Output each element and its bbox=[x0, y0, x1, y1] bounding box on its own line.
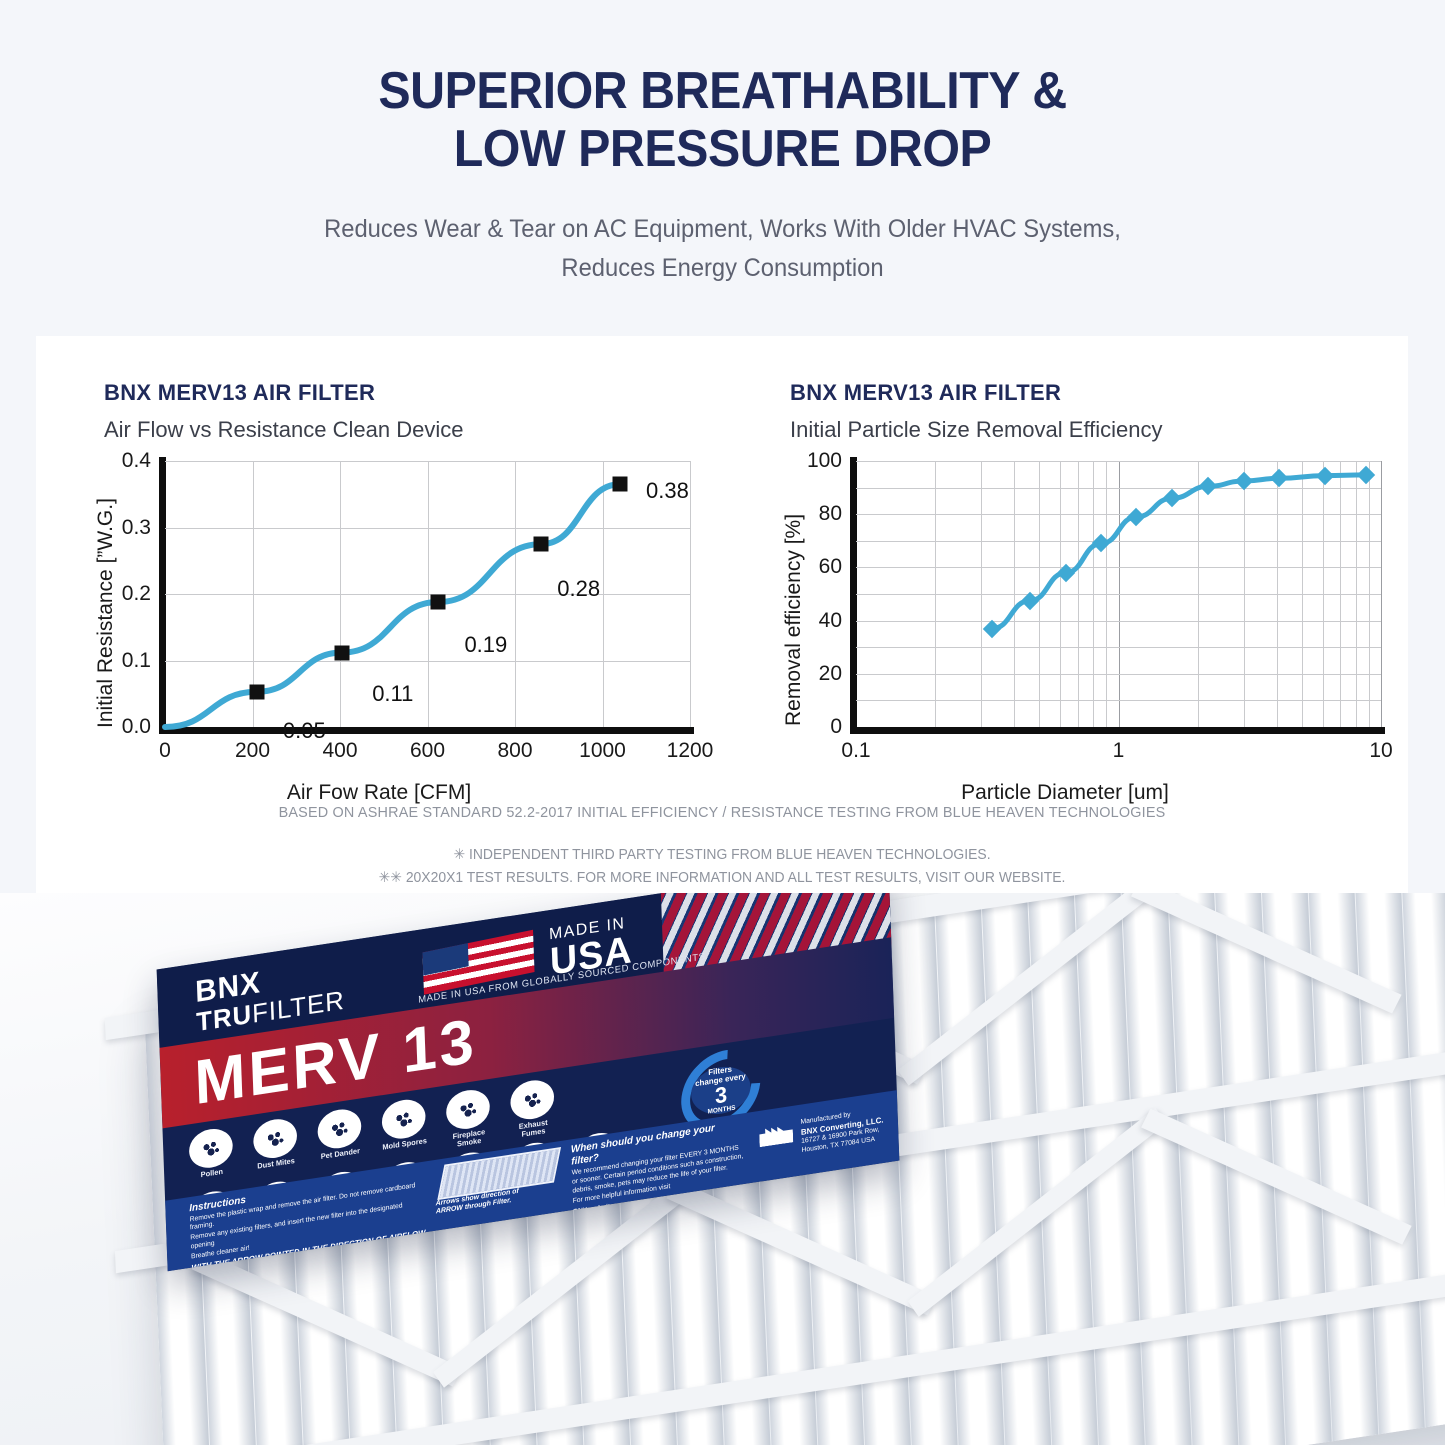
chart-1-x-tick: 0 bbox=[159, 739, 171, 763]
chart-1-x-axis-label: Air Fow Rate [CFM] bbox=[36, 781, 722, 805]
footnote-standard: BASED ON ASHRAE STANDARD 52.2-2017 INITI… bbox=[63, 804, 1380, 821]
chart-2-y-tick: 100 bbox=[807, 449, 842, 473]
product-photo: BNX TRUFILTER MADE IN USA MADE IN USA FR… bbox=[0, 893, 1445, 1445]
chart-2-x-axis bbox=[850, 727, 1385, 734]
particle-icon-cell: Pollen bbox=[185, 1125, 238, 1189]
chart-1-x-tick: 1000 bbox=[579, 739, 626, 763]
chart-2-x-tick: 1 bbox=[1113, 739, 1125, 763]
chart-1-x-tick: 200 bbox=[235, 739, 270, 763]
particle-icon-label: Pet Dander bbox=[315, 1146, 367, 1162]
charts-card: BNX MERV13 AIR FILTER Air Flow vs Resist… bbox=[36, 336, 1408, 893]
chart-1-plot-area: 0200400600800100012000.00.10.20.30.40.05… bbox=[165, 461, 690, 727]
exhaust-fumes-icon bbox=[510, 1077, 555, 1122]
chart-1-x-tick: 800 bbox=[497, 739, 532, 763]
page-title: SUPERIOR BREATHABILITY & LOW PRESSURE DR… bbox=[51, 0, 1395, 178]
chart-1-series-line bbox=[165, 461, 690, 727]
chart-1-point-label: 0.38 bbox=[646, 478, 689, 504]
chart-1-y-tick: 0.2 bbox=[122, 582, 151, 606]
chart-1-x-tick: 400 bbox=[322, 739, 357, 763]
page-subtitle-line-2: Reduces Energy Consumption bbox=[36, 249, 1409, 288]
chart-1-data-point bbox=[613, 477, 628, 492]
footnote-line-2: ✳ INDEPENDENT THIRD PARTY TESTING FROM B… bbox=[63, 844, 1380, 867]
chart-2-x-tick: 10 bbox=[1369, 739, 1392, 763]
particle-icon-cell: Pet Dander bbox=[313, 1106, 366, 1170]
chart-1-x-tick: 600 bbox=[410, 739, 445, 763]
chart-2-y-tick: 40 bbox=[819, 609, 842, 633]
particle-icon-cell: Exhaust Fumes bbox=[506, 1077, 559, 1141]
particle-icon-label: Mold Spores bbox=[379, 1136, 431, 1152]
chart-1-y-tick: 0.1 bbox=[122, 649, 151, 673]
chart-2-gridline-v bbox=[1381, 461, 1382, 727]
chart-1-gridline-v bbox=[690, 461, 691, 727]
chart-1-title: Air Flow vs Resistance Clean Device bbox=[104, 417, 463, 443]
particle-icon-cell: Mold Spores bbox=[377, 1096, 430, 1160]
chart-1-point-label: 0.28 bbox=[557, 576, 600, 602]
badge-number: 3 bbox=[715, 1084, 728, 1108]
mold-spores-icon bbox=[381, 1097, 426, 1142]
manufacturer-text: Manufactured by BNX Converting, LLC. 167… bbox=[800, 1106, 884, 1156]
chart-2-y-axis-label: Removal efficiency [%] bbox=[782, 514, 806, 726]
chart-1-y-tick: 0.0 bbox=[122, 715, 151, 739]
particle-icon-cell: Dust Mites bbox=[249, 1116, 302, 1180]
footnote-line-3: ✳✳ 20X20X1 TEST RESULTS. FOR MORE INFORM… bbox=[63, 867, 1380, 890]
chart-2-series-line bbox=[856, 461, 1381, 727]
particle-icon-cell: Fireplace Smoke bbox=[442, 1086, 495, 1150]
chart-1-y-tick: 0.4 bbox=[122, 449, 151, 473]
particle-icon-label: Exhaust Fumes bbox=[507, 1117, 559, 1141]
page-title-line-2: LOW PRESSURE DROP bbox=[51, 120, 1395, 178]
chart-2-plot-area: 0.1110020406080100 bbox=[856, 461, 1381, 727]
chart-1-y-tick: 0.3 bbox=[122, 516, 151, 540]
dust-mites-icon bbox=[253, 1116, 298, 1161]
chart-1-point-label: 0.11 bbox=[372, 681, 413, 707]
hero-section: SUPERIOR BREATHABILITY & LOW PRESSURE DR… bbox=[0, 0, 1445, 320]
chart-1-point-label: 0.05 bbox=[283, 718, 326, 744]
pet-dander-icon bbox=[317, 1107, 362, 1152]
pollen-icon bbox=[188, 1126, 233, 1171]
chart-1-data-point bbox=[534, 537, 549, 552]
footnote-block: ✳ INDEPENDENT THIRD PARTY TESTING FROM B… bbox=[63, 844, 1380, 890]
page-title-line-1: SUPERIOR BREATHABILITY & bbox=[378, 62, 1066, 120]
chart-2-y-tick: 60 bbox=[819, 555, 842, 579]
chart-2-x-axis-label: Particle Diameter [um] bbox=[722, 781, 1408, 805]
chart-1-x-axis bbox=[159, 727, 694, 734]
particle-icon-label: Pollen bbox=[186, 1166, 238, 1182]
flag-canton bbox=[422, 943, 468, 975]
chart-1-y-axis-label: Initial Resistance [”W.G.] bbox=[94, 498, 118, 728]
manufacturer-block: Manufactured by BNX Converting, LLC. 167… bbox=[759, 1106, 885, 1162]
chart-1-point-label: 0.19 bbox=[464, 632, 507, 658]
particle-icon-label: Dust Mites bbox=[250, 1156, 302, 1172]
page-subtitle: Reduces Wear & Tear on AC Equipment, Wor… bbox=[36, 178, 1409, 288]
particle-icon-label: Fireplace Smoke bbox=[443, 1127, 495, 1151]
chart-2-y-tick: 0 bbox=[830, 715, 842, 739]
chart-1-brand-title: BNX MERV13 AIR FILTER bbox=[104, 380, 375, 406]
chart-2-brand-title: BNX MERV13 AIR FILTER bbox=[790, 380, 1061, 406]
chart-2-title: Initial Particle Size Removal Efficiency bbox=[790, 417, 1163, 443]
chart-1-data-point bbox=[335, 645, 350, 660]
chart-2-y-tick: 20 bbox=[819, 662, 842, 686]
chart-2-y-tick: 80 bbox=[819, 502, 842, 526]
chart-1-data-point bbox=[249, 684, 264, 699]
page-subtitle-line-1: Reduces Wear & Tear on AC Equipment, Wor… bbox=[36, 210, 1409, 249]
chart-1-data-point bbox=[431, 594, 446, 609]
chart-2-x-tick: 0.1 bbox=[841, 739, 870, 763]
chart-1-x-tick: 1200 bbox=[667, 739, 714, 763]
fireplace-smoke-icon bbox=[446, 1087, 491, 1132]
factory-icon bbox=[759, 1120, 793, 1147]
